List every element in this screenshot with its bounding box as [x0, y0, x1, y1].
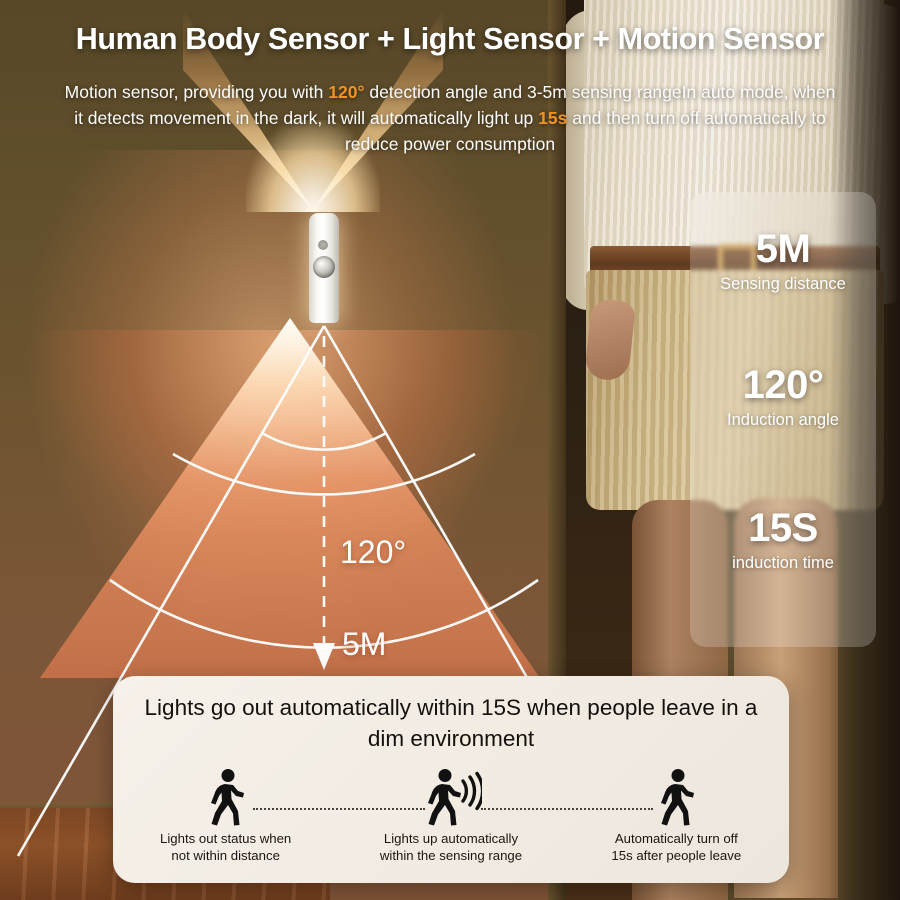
spec-item-sensing-distance: 5M Sensing distance [690, 228, 876, 294]
spec-item-induction-angle: 120° Induction angle [690, 364, 876, 430]
feature-column-caption: Lights out status when not within distan… [160, 830, 291, 864]
feature-card-columns: Lights out status when not within distan… [113, 768, 789, 880]
feature-column-1: Lights out status when not within distan… [113, 768, 338, 880]
cone-angle-label: 120° [340, 534, 406, 571]
subtitle-highlight-angle: 120° [328, 82, 364, 102]
subtitle-highlight-time: 15s [538, 108, 567, 128]
feature-column-caption: Automatically turn off 15s after people … [611, 830, 741, 864]
feature-column-caption: Lights up automatically within the sensi… [380, 830, 522, 864]
spec-value: 120° [690, 364, 876, 406]
pir-lens-icon [313, 256, 335, 278]
walking-person-signal-icon [420, 768, 482, 826]
device-button-icon [318, 240, 328, 250]
page-subtitle: Motion sensor, providing you with 120° d… [62, 79, 838, 157]
spec-caption: induction time [690, 554, 876, 573]
product-infographic: 120° 5M Human Body Sensor + Light Sensor… [0, 0, 900, 900]
spec-value: 15S [690, 507, 876, 549]
spec-panel: 5M Sensing distance 120° Induction angle… [690, 192, 876, 647]
feature-card-headline: Lights go out automatically within 15S w… [135, 692, 767, 754]
spec-caption: Induction angle [690, 411, 876, 430]
feature-card: Lights go out automatically within 15S w… [113, 676, 789, 883]
subtitle-text-1: Motion sensor, providing you with [65, 82, 329, 102]
walking-person-icon [203, 768, 249, 826]
spec-item-induction-time: 15S induction time [690, 507, 876, 573]
page-title: Human Body Sensor + Light Sensor + Motio… [0, 22, 900, 57]
spec-value: 5M [690, 228, 876, 270]
walking-person-away-icon [653, 768, 699, 826]
feature-column-3: Automatically turn off 15s after people … [564, 768, 789, 880]
cone-distance-label: 5M [342, 626, 386, 663]
feature-column-2: Lights up automatically within the sensi… [338, 768, 563, 880]
spec-caption: Sensing distance [690, 275, 876, 294]
